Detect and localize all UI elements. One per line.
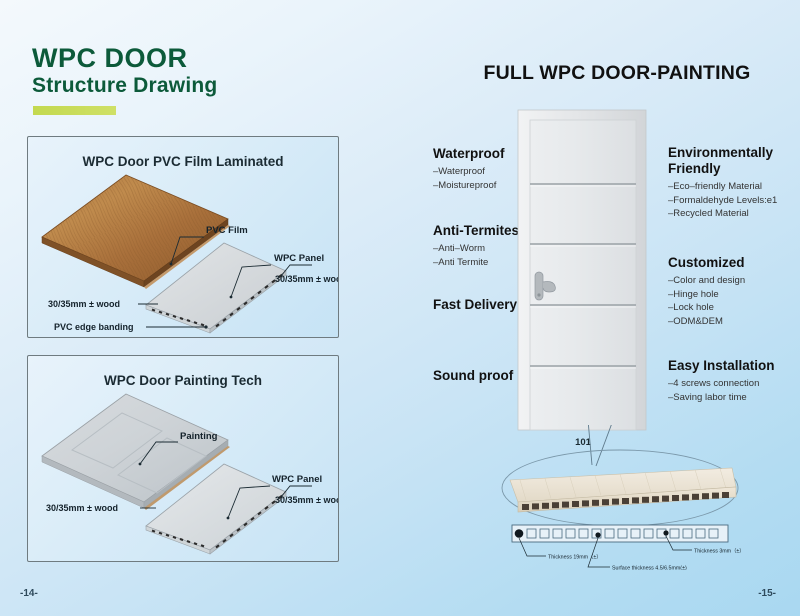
diagram-panel-painting-tech: WPC Door Painting Tech: [27, 355, 339, 562]
feature-waterproof-items: –Waterproof –Moistureproof: [433, 165, 505, 193]
left-page-title: WPC DOOR Structure Drawing: [32, 44, 217, 99]
page-number-left: -14-: [20, 588, 38, 599]
brochure-page: WPC DOOR Structure Drawing WPC Door PVC …: [0, 0, 800, 616]
diagram-panel-pvc-film: WPC Door PVC Film Laminated: [27, 136, 339, 338]
label-wood-thickness-right-2: 30/35mm ± wood: [275, 495, 338, 505]
painting-tech-illustration: Painting WPC Panel 30/35mm ± wood 30/35m…: [28, 356, 338, 561]
label-wpc-panel: WPC Panel: [274, 253, 324, 264]
panel-detail-callout: Thickness 19mm（±） Surface thickness 4.5/…: [470, 425, 770, 570]
label-wood-thickness-left-2: 30/35mm ± wood: [46, 503, 118, 513]
spec-callout-thickness-3mm: Thickness 3mm（±）: [694, 548, 745, 555]
label-pvc-edge-banding: PVC edge banding: [54, 322, 134, 332]
door-illustration: 101: [500, 100, 700, 450]
feature-item: –Moistureproof: [433, 179, 505, 193]
spec-callout-thickness-19mm: Thickness 19mm（±）: [548, 554, 602, 561]
right-page-title: FULL WPC DOOR-PAINTING: [462, 62, 772, 85]
left-title-main: WPC DOOR: [32, 44, 217, 72]
feature-item: –Waterproof: [433, 165, 505, 179]
left-title-sub: Structure Drawing: [32, 73, 217, 98]
page-number-right: -15-: [758, 588, 776, 599]
feature-waterproof: Waterproof –Waterproof –Moistureproof: [433, 146, 505, 192]
label-wood-thickness-left: 30/35mm ± wood: [48, 299, 120, 309]
spec-callout-surface-thickness: Surface thickness 4.5/6.5mm(±): [612, 566, 687, 571]
label-painting: Painting: [180, 431, 218, 442]
pvc-film-illustration: PVC Film WPC Panel 30/35mm ± wood 30/35m…: [28, 137, 338, 337]
title-accent-bar: [33, 106, 116, 115]
label-wpc-panel-2: WPC Panel: [272, 474, 322, 485]
label-pvc-film: PVC Film: [206, 225, 248, 236]
feature-waterproof-head: Waterproof: [433, 146, 505, 162]
label-wood-thickness-right: 30/35mm ± wood: [275, 274, 338, 284]
